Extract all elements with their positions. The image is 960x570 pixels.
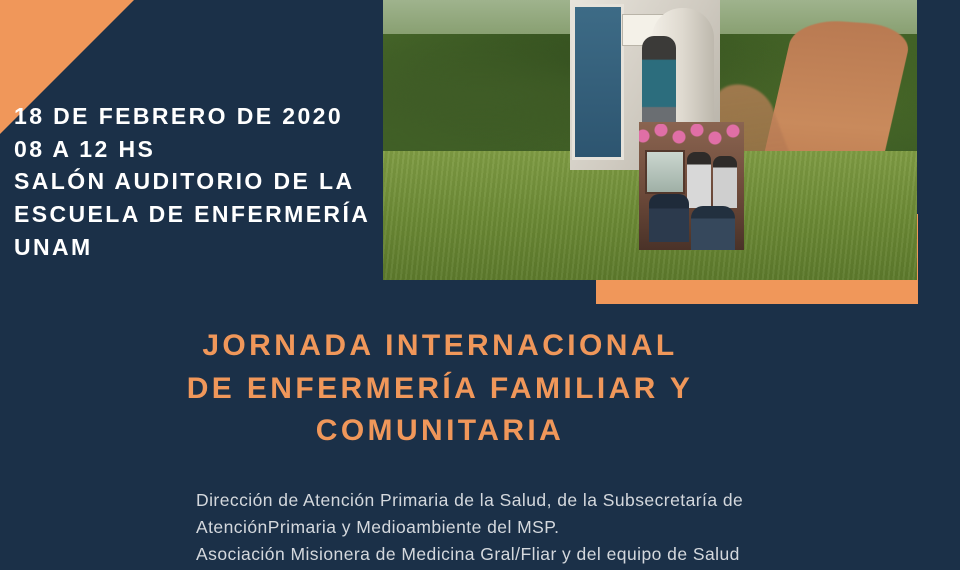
organizers-block: Dirección de Atención Primaria de la Sal…: [196, 487, 906, 567]
photo-door: [572, 4, 624, 160]
event-venue-line-2: Escuela de Enfermería: [14, 198, 384, 231]
photo-attendee: [649, 194, 689, 242]
title-line-3: Comunitaria: [0, 410, 880, 453]
event-details-block: 18 de febrero de 2020 08 a 12 hs Salón a…: [14, 100, 384, 263]
title-line-1: Jornada Internacional: [0, 325, 880, 368]
photo-community-meeting: [639, 122, 744, 250]
photo-window: [645, 150, 685, 194]
event-date: 18 de febrero de 2020: [14, 100, 384, 133]
photo-attendee: [713, 156, 737, 208]
event-poster: 18 de febrero de 2020 08 a 12 hs Salón a…: [0, 0, 960, 570]
organizer-line-3: Asociación Misionera de Medicina Gral/Fl…: [196, 541, 906, 568]
photo-garland-decoration: [639, 124, 744, 146]
page-title: Jornada Internacional de Enfermería Fami…: [0, 325, 880, 453]
event-time: 08 a 12 hs: [14, 133, 384, 166]
title-line-2: de Enfermería Familiar y: [0, 368, 880, 411]
event-venue-line-1: Salón auditorio de la: [14, 165, 384, 198]
photo-attendee: [691, 206, 735, 250]
event-institution: UNaM: [14, 231, 384, 264]
organizer-line-2: AtenciónPrimaria y Medioambiente del MSP…: [196, 514, 906, 541]
photo-attendee: [687, 152, 711, 208]
organizer-line-1: Dirección de Atención Primaria de la Sal…: [196, 487, 906, 514]
